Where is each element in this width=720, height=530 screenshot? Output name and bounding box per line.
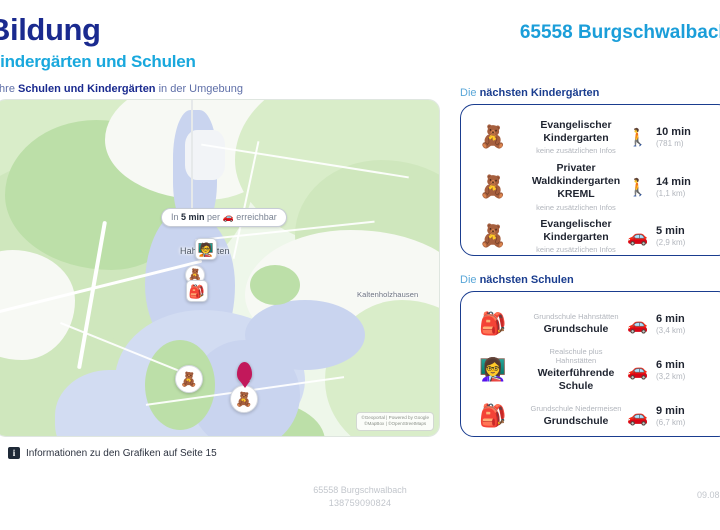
walking-person-icon: 🚶 bbox=[627, 129, 649, 146]
page-title: Bildung bbox=[0, 12, 101, 48]
kg-title-bold: nächsten Kindergärten bbox=[480, 87, 600, 99]
info-note-text: Informationen zu den Grafiken auf Seite … bbox=[26, 448, 217, 459]
teddy-bear-icon: 🧸 bbox=[461, 126, 525, 148]
kg-time: 5 min bbox=[656, 225, 685, 237]
footer-date: 09.08.20 bbox=[697, 490, 720, 500]
list-item[interactable]: 👩‍🏫 Realschule plus Hahnstätten Weiterfü… bbox=[461, 348, 720, 392]
kg-sub: keine zusätzlichen Infos bbox=[529, 245, 623, 254]
backpack-icon: 🎒 bbox=[461, 405, 525, 427]
kg-name: Privater Waldkindergarten KREML bbox=[529, 162, 623, 200]
map-marker-kindergarten-center[interactable]: 🧸 bbox=[230, 385, 258, 413]
kg-time: 14 min bbox=[656, 176, 691, 188]
schulen-section-title: Die nächsten Schulen bbox=[460, 274, 574, 286]
kg-distance: (2,9 km) bbox=[656, 238, 685, 248]
kg-name: Evangelischer Kindergarten bbox=[529, 218, 623, 244]
kg-time: 10 min bbox=[656, 126, 691, 138]
page-subtitle: Kindergärten und Schulen bbox=[0, 52, 196, 72]
map-caption: Ihre Schulen und Kindergärten in der Umg… bbox=[0, 83, 243, 95]
location-title: 65558 Burgschwalbach bbox=[520, 22, 720, 44]
footer-center: 65558 Burgschwalbach 138759090824 bbox=[0, 484, 720, 510]
map-caption-post: in der Umgebung bbox=[156, 83, 243, 95]
kg-title-light: Die bbox=[460, 87, 480, 99]
badge-pre: In bbox=[171, 212, 181, 222]
map-reachability-badge: In 5 min per 🚗 erreichbar bbox=[161, 208, 287, 227]
list-item[interactable]: 🧸 Privater Waldkindergarten KREML keine … bbox=[461, 163, 720, 211]
list-item[interactable]: 🧸 Evangelischer Kindergarten keine zusät… bbox=[461, 115, 720, 159]
footer-location: 65558 Burgschwalbach bbox=[0, 484, 720, 497]
footer-id: 138759090824 bbox=[0, 497, 720, 510]
sch-supra: Realschule plus Hahnstätten bbox=[529, 347, 623, 365]
sch-name: Weiterführende Schule bbox=[529, 367, 623, 393]
map-attribution: ©Geoportal | Powered by Google ©MapBox |… bbox=[356, 412, 434, 431]
sch-distance: (3,2 km) bbox=[656, 372, 685, 382]
teddy-bear-icon: 🧸 bbox=[461, 176, 525, 198]
teddy-bear-icon: 🧸 bbox=[461, 225, 525, 247]
car-icon: 🚗 bbox=[627, 228, 649, 245]
list-item[interactable]: 🎒 Grundschule Hahnstätten Grundschule 🚗 … bbox=[461, 302, 720, 346]
car-icon: 🚗 bbox=[627, 316, 649, 333]
sch-supra: Grundschule Hahnstätten bbox=[529, 312, 623, 321]
walking-person-icon: 🚶 bbox=[627, 179, 649, 196]
car-icon: 🚗 bbox=[223, 212, 234, 222]
sch-time: 6 min bbox=[656, 313, 685, 325]
kg-distance: (1,1 km) bbox=[656, 189, 691, 199]
map-marker-backpack-hahnstaetten[interactable]: 🎒 bbox=[186, 280, 208, 302]
car-icon: 🚗 bbox=[627, 362, 649, 379]
sch-name: Grundschule bbox=[529, 415, 623, 428]
kindergarten-section-title: Die nächsten Kindergärten bbox=[460, 87, 599, 99]
info-icon: i bbox=[8, 447, 20, 459]
sch-time: 9 min bbox=[656, 405, 685, 417]
kg-sub: keine zusätzlichen Infos bbox=[529, 203, 623, 212]
map-marker-school-hahnstaetten[interactable]: 🧑‍🏫 bbox=[195, 238, 217, 260]
map-marker-kindergarten-west[interactable]: 🧸 bbox=[175, 365, 203, 393]
sch-name: Grundschule bbox=[529, 323, 623, 336]
kindergarten-card: 🧸 Evangelischer Kindergarten keine zusät… bbox=[460, 104, 720, 256]
map-attribution-line2: ©MapBox | ©OpenStreetMaps bbox=[361, 421, 429, 428]
list-item[interactable]: 🧸 Evangelischer Kindergarten keine zusät… bbox=[461, 215, 720, 257]
sch-time: 6 min bbox=[656, 359, 685, 371]
sch-supra: Grundschule Niedermeisen bbox=[529, 404, 623, 413]
badge-mid: per bbox=[205, 212, 223, 222]
info-note: i Informationen zu den Grafiken auf Seit… bbox=[8, 447, 217, 459]
student-icon: 👩‍🏫 bbox=[461, 359, 525, 381]
badge-bold: 5 min bbox=[181, 212, 205, 222]
kg-distance: (781 m) bbox=[656, 139, 691, 149]
report-page: Bildung Kindergärten und Schulen 65558 B… bbox=[0, 0, 720, 530]
kg-name: Evangelischer Kindergarten bbox=[529, 119, 623, 145]
map-caption-bold: Schulen und Kindergärten bbox=[18, 83, 156, 95]
map-canvas[interactable]: Hahnstätten Kaltenholzhausen Burgschwalb… bbox=[0, 100, 439, 436]
list-item[interactable]: 🎒 Grundschule Niedermeisen Grundschule 🚗… bbox=[461, 394, 720, 438]
map-label-kaltenholzhausen: Kaltenholzhausen bbox=[357, 290, 418, 299]
badge-post: erreichbar bbox=[234, 212, 277, 222]
sch-distance: (6,7 km) bbox=[656, 418, 685, 428]
backpack-icon: 🎒 bbox=[461, 313, 525, 335]
map-pin-location[interactable] bbox=[237, 362, 252, 383]
sch-title-light: Die bbox=[460, 274, 480, 286]
sch-title-bold: nächsten Schulen bbox=[480, 274, 574, 286]
schulen-card: 🎒 Grundschule Hahnstätten Grundschule 🚗 … bbox=[460, 291, 720, 437]
map-container[interactable]: Hahnstätten Kaltenholzhausen Burgschwalb… bbox=[0, 99, 440, 437]
map-caption-pre: Ihre bbox=[0, 83, 18, 95]
sch-distance: (3,4 km) bbox=[656, 326, 685, 336]
kg-sub: keine zusätzlichen Infos bbox=[529, 146, 623, 155]
car-icon: 🚗 bbox=[627, 408, 649, 425]
